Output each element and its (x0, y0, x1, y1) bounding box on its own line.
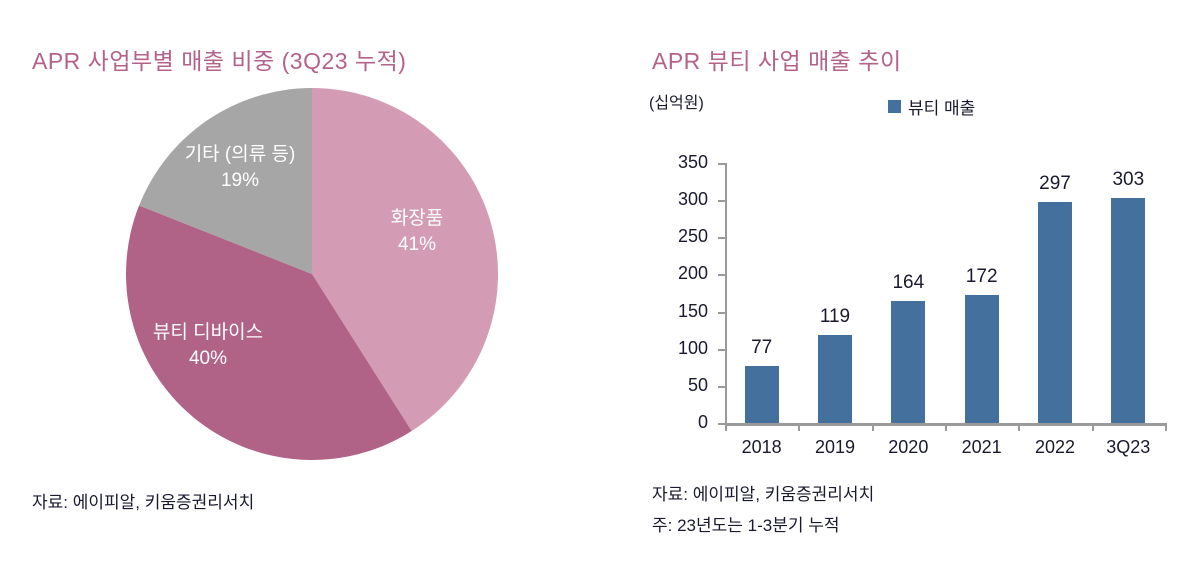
x-tick-5 (1092, 423, 1094, 431)
pie-chart (126, 88, 498, 460)
x-axis-label-2020: 2020 (888, 437, 928, 458)
source-note-pie: 자료: 에이피알, 키움증권리서치 (32, 488, 254, 513)
y-tick-label-150: 150 (678, 301, 708, 322)
y-axis-unit-label: (십억원) (649, 89, 704, 113)
legend-swatch-icon (888, 100, 901, 113)
bar-2021[interactable] (965, 295, 999, 423)
pie-svg (126, 88, 498, 460)
y-tick-150: 150 (718, 312, 725, 314)
x-tick-1 (798, 423, 800, 431)
y-tick-label-200: 200 (678, 263, 708, 284)
x-tick-2 (872, 423, 874, 431)
y-tick-label-100: 100 (678, 338, 708, 359)
bar-2022[interactable] (1038, 202, 1072, 423)
y-tick-350: 350 (718, 163, 725, 165)
y-tick-200: 200 (718, 274, 725, 276)
pie-chart-panel: APR 사업부별 매출 비중 (3Q23 누적) 화장품 41% 뷰티 디바이스… (0, 0, 620, 578)
x-tick-4 (1018, 423, 1020, 431)
bar-group-2020: 1642020 (872, 163, 945, 423)
bar-2018[interactable] (745, 366, 779, 423)
bar-group-2022: 2972022 (1018, 163, 1091, 423)
bar-value-2022: 297 (1039, 173, 1071, 195)
footnote-bar: 주: 23년도는 1-3분기 누적 (652, 511, 840, 536)
x-axis-label-3Q23: 3Q23 (1106, 437, 1150, 458)
bar-group-3Q23: 3033Q23 (1092, 163, 1165, 423)
bar-3Q23[interactable] (1111, 198, 1145, 423)
bar-group-2021: 1722021 (945, 163, 1018, 423)
x-axis-label-2019: 2019 (815, 437, 855, 458)
bar-plot-area: 050100150200250300350 772018119201916420… (725, 163, 1165, 423)
bar-value-2018: 77 (751, 337, 772, 359)
x-axis-label-2018: 2018 (742, 437, 782, 458)
chart-legend: 뷰티 매출 (888, 94, 975, 119)
bar-2019[interactable] (818, 335, 852, 423)
x-axis-label-2021: 2021 (962, 437, 1002, 458)
y-tick-label-250: 250 (678, 226, 708, 247)
bar-chart-panel: APR 뷰티 사업 매출 추이 (십억원) 뷰티 매출 050100150200… (620, 0, 1198, 578)
bar-2020[interactable] (891, 301, 925, 423)
x-tick-3 (945, 423, 947, 431)
y-tick-label-350: 350 (678, 152, 708, 173)
y-tick-label-300: 300 (678, 189, 708, 210)
y-tick-300: 300 (718, 200, 725, 202)
y-tick-0: 0 (718, 423, 725, 425)
y-tick-250: 250 (718, 237, 725, 239)
bar-value-3Q23: 303 (1112, 169, 1144, 191)
x-tick-0 (725, 423, 727, 431)
y-tick-label-0: 0 (698, 412, 708, 433)
page-title-pie: APR 사업부별 매출 비중 (3Q23 누적) (32, 42, 406, 76)
bar-value-2019: 119 (820, 306, 850, 328)
y-tick-100: 100 (718, 349, 725, 351)
bar-value-2021: 172 (966, 266, 998, 288)
page-title-bar: APR 뷰티 사업 매출 추이 (652, 42, 902, 76)
y-tick-50: 50 (718, 386, 725, 388)
x-tick-6 (1165, 423, 1167, 431)
y-tick-label-50: 50 (688, 375, 708, 396)
bar-group-2018: 772018 (725, 163, 798, 423)
source-note-bar: 자료: 에이피알, 키움증권리서치 (652, 480, 874, 505)
x-axis-label-2022: 2022 (1035, 437, 1075, 458)
legend-label-beauty-sales: 뷰티 매출 (908, 94, 975, 119)
bar-group-2019: 1192019 (798, 163, 871, 423)
bar-value-2020: 164 (892, 272, 924, 294)
